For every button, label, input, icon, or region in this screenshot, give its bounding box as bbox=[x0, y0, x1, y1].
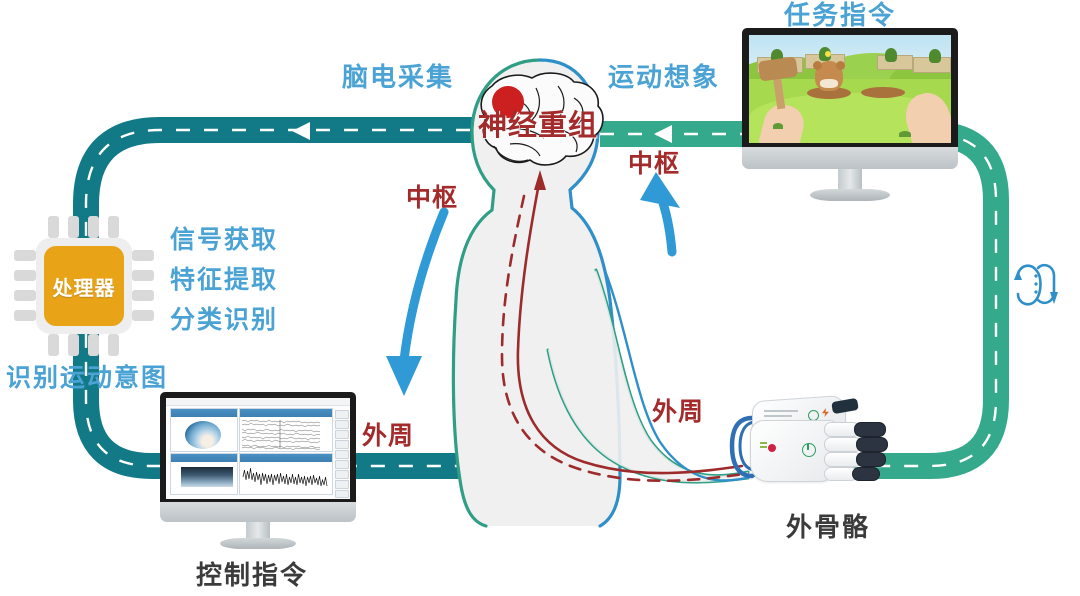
processor-function-1: 信号获取 bbox=[170, 228, 278, 253]
neural-reorganization-label: 神经重组 bbox=[478, 112, 598, 141]
spectrogram-image bbox=[181, 467, 233, 487]
game-mole-ear bbox=[813, 61, 822, 70]
game-screen[interactable] bbox=[749, 35, 951, 143]
eeg-panel-waveform bbox=[239, 453, 333, 495]
panel-header bbox=[240, 409, 332, 417]
monitor-base bbox=[810, 189, 890, 201]
motor-imagery-label: 运动想象 bbox=[608, 64, 720, 90]
refresh-loop-icon bbox=[1014, 265, 1058, 304]
exo-brand-mark bbox=[768, 444, 776, 452]
game-tree bbox=[929, 49, 941, 63]
eeg-panel-spectrogram bbox=[170, 453, 238, 495]
central-label-right: 中枢 bbox=[628, 152, 680, 177]
eeg-tool-button[interactable] bbox=[335, 420, 349, 429]
chip-pin bbox=[108, 216, 119, 238]
peripheral-label-right: 外周 bbox=[652, 400, 704, 425]
eeg-tool-button[interactable] bbox=[335, 450, 349, 459]
chip-pin bbox=[132, 270, 154, 281]
eeg-waveform bbox=[242, 464, 330, 490]
game-mole-hole-empty bbox=[861, 87, 905, 98]
eeg-window bbox=[166, 398, 350, 499]
game-mole-ear bbox=[836, 61, 845, 70]
chip-pin bbox=[88, 216, 99, 238]
eeg-acquisition-label: 脑电采集 bbox=[342, 64, 454, 90]
control-command-label: 控制指令 bbox=[196, 562, 308, 588]
eeg-titlebar bbox=[166, 398, 350, 406]
chip-pin bbox=[88, 334, 99, 356]
processor-function-2: 特征提取 bbox=[170, 268, 278, 293]
eeg-tool-button[interactable] bbox=[335, 410, 349, 419]
game-grass bbox=[773, 123, 783, 129]
monitor-chin bbox=[742, 147, 958, 169]
game-star bbox=[825, 51, 831, 57]
chip-pin bbox=[14, 290, 36, 301]
monitor-neck bbox=[838, 169, 862, 191]
eeg-software-screen[interactable] bbox=[166, 398, 350, 499]
exo-power-glyph bbox=[807, 444, 809, 450]
exo-finger-tip bbox=[854, 422, 886, 437]
diagram-canvas: 处理器 信号获取 特征提取 分类识别 bbox=[0, 0, 1080, 596]
game-mole-muzzle bbox=[820, 79, 838, 88]
chip-pin bbox=[14, 270, 36, 281]
exo-vent bbox=[764, 410, 798, 412]
eeg-tool-button[interactable] bbox=[335, 470, 349, 479]
game-grass bbox=[899, 131, 911, 137]
eeg-trace-lines bbox=[240, 418, 332, 450]
exoskeleton-device[interactable] bbox=[726, 398, 916, 498]
chip-die: 处理器 bbox=[44, 246, 124, 326]
chip-pin bbox=[68, 334, 79, 356]
eeg-tool-button[interactable] bbox=[335, 490, 349, 498]
task-instruction-label: 任务指令 bbox=[784, 2, 896, 28]
exo-led bbox=[760, 442, 767, 444]
arrow-up-right bbox=[640, 172, 680, 252]
chip-pin bbox=[68, 216, 79, 238]
monitor-chin bbox=[160, 502, 356, 522]
eeg-tool-button[interactable] bbox=[335, 460, 349, 469]
processor-label: 处理器 bbox=[53, 272, 116, 301]
exo-finger-tip bbox=[856, 452, 886, 467]
exo-power-button[interactable] bbox=[802, 443, 816, 457]
exo-led bbox=[760, 446, 767, 448]
chip-pin bbox=[48, 216, 59, 238]
peripheral-label-left: 外周 bbox=[362, 424, 414, 449]
exo-finger-tip bbox=[852, 467, 880, 481]
chip-pin bbox=[48, 334, 59, 356]
eeg-tool-button[interactable] bbox=[335, 480, 349, 489]
processor-function-3: 分类识别 bbox=[170, 308, 278, 333]
panel-header bbox=[171, 454, 237, 462]
chip-pin bbox=[14, 250, 36, 261]
panel-header bbox=[240, 454, 332, 462]
chip-pin bbox=[132, 290, 154, 301]
processor-chip[interactable]: 处理器 bbox=[14, 216, 154, 356]
task-monitor[interactable] bbox=[742, 28, 958, 200]
exo-finger-tip bbox=[856, 437, 888, 452]
monitor-base bbox=[220, 538, 296, 549]
eeg-tool-button[interactable] bbox=[335, 430, 349, 439]
central-label-left: 中枢 bbox=[406, 186, 458, 211]
arrow-down-left bbox=[386, 212, 444, 396]
game-tree bbox=[885, 48, 897, 62]
eeg-panel-traces bbox=[239, 408, 333, 452]
exo-vent bbox=[764, 415, 792, 417]
chip-pin bbox=[14, 310, 36, 321]
chip-pin bbox=[132, 250, 154, 261]
eeg-panel-topomap bbox=[170, 408, 238, 452]
recognize-intent-label: 识别运动意图 bbox=[6, 366, 168, 391]
chip-pin bbox=[132, 310, 154, 321]
panel-header bbox=[171, 409, 237, 417]
exoskeleton-label: 外骨骼 bbox=[786, 514, 870, 540]
eeg-topomap bbox=[185, 421, 221, 449]
chip-pin bbox=[108, 334, 119, 356]
control-monitor[interactable] bbox=[160, 392, 356, 552]
eeg-tool-button[interactable] bbox=[335, 440, 349, 449]
